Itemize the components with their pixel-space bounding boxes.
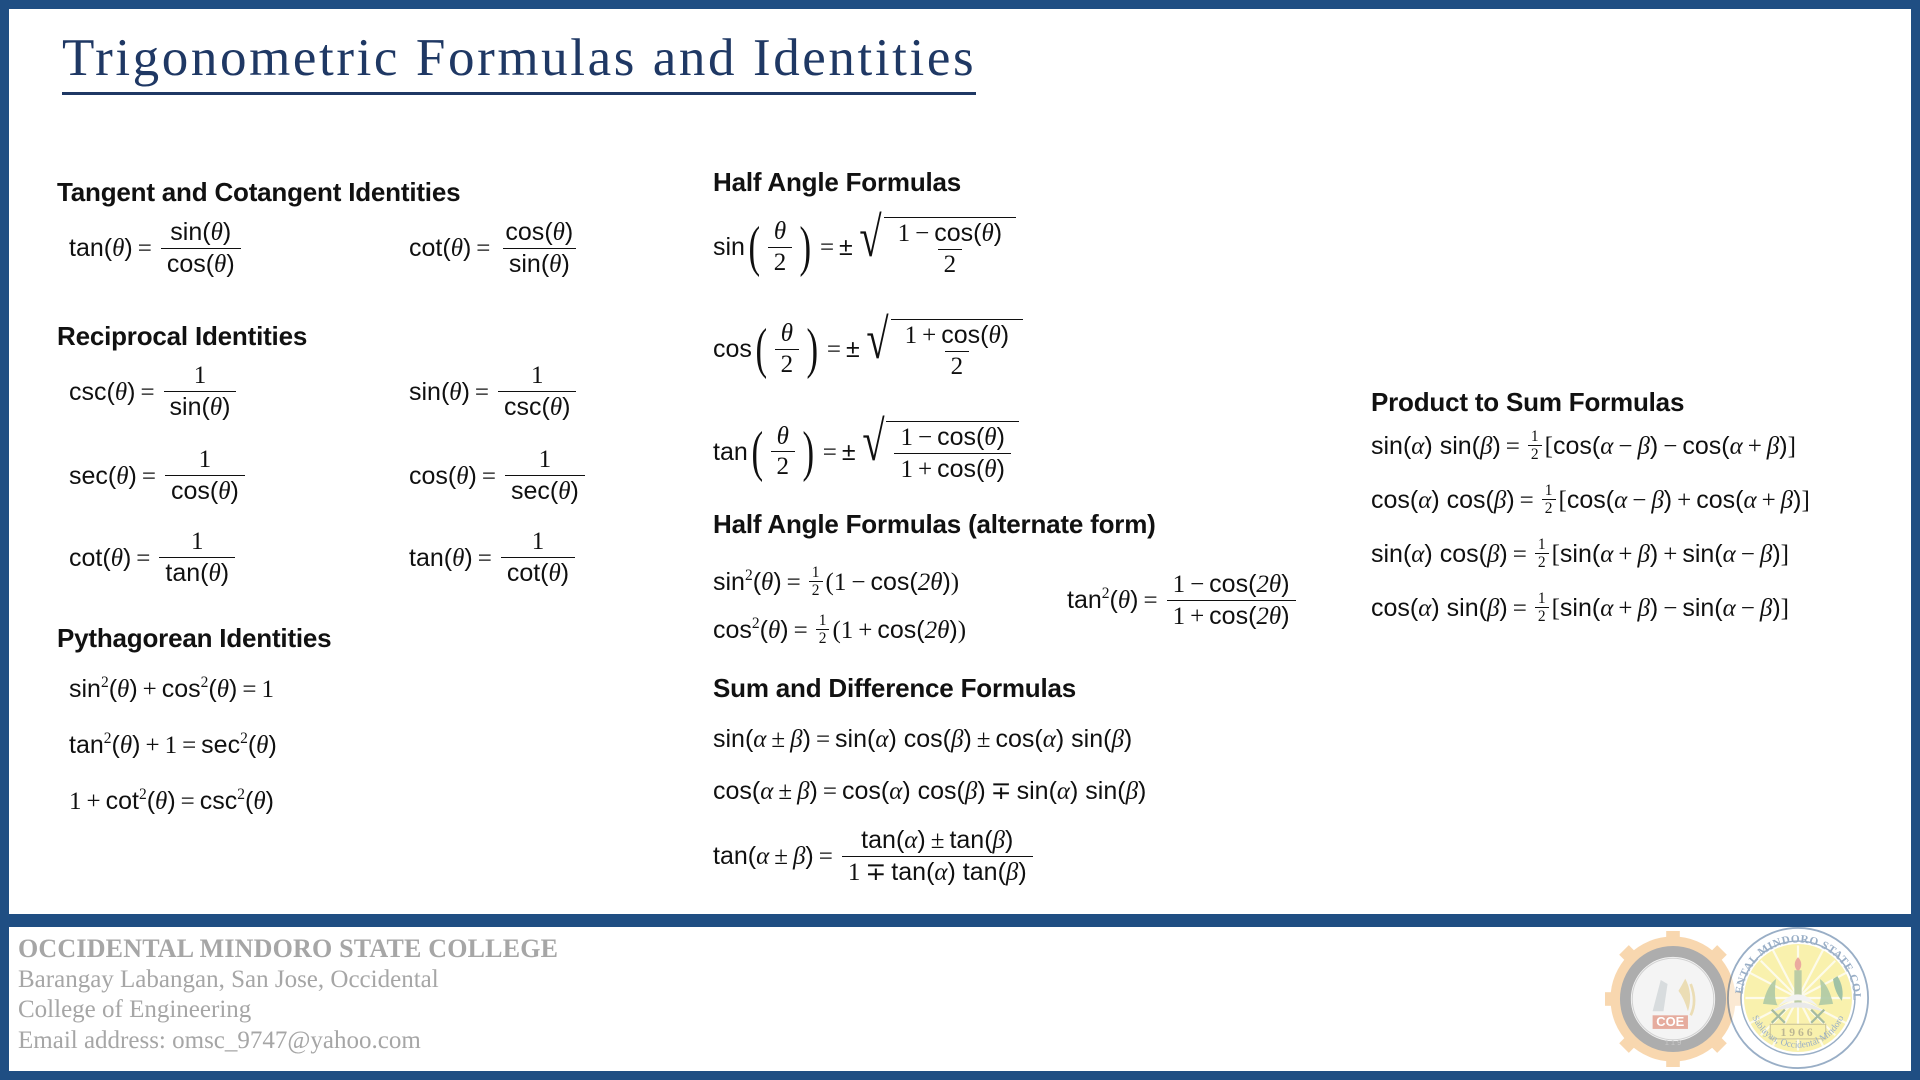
- radical-sign: √: [866, 319, 888, 380]
- exponent-2: 2: [745, 568, 753, 584]
- value-one: 1: [69, 789, 82, 814]
- symbol-beta: β: [790, 727, 802, 752]
- symbol-theta: θ: [117, 677, 129, 702]
- symbol-equals: =: [177, 733, 201, 758]
- symbol-minus: −: [1658, 596, 1682, 621]
- fraction-one-over-sin: 1 sin(θ): [164, 363, 237, 421]
- value-one: 1: [900, 424, 913, 451]
- value-one: 1: [834, 570, 847, 595]
- fraction-theta-over-two: θ 2: [775, 321, 800, 378]
- fraction-one-half: 1 2: [816, 613, 830, 648]
- symbol-plus: +: [1658, 542, 1682, 567]
- fraction-numerator: θ: [768, 219, 792, 247]
- fn-tan: tan: [949, 826, 984, 854]
- fn-sin: sin: [1371, 542, 1403, 567]
- symbol-plus: +: [1613, 596, 1637, 621]
- fraction-numerator: 1: [188, 363, 213, 391]
- symbol-alpha: α: [1723, 542, 1736, 567]
- formula-pythagorean-tan-sec: tan2(θ) + 1 = sec2(θ): [69, 733, 277, 758]
- bracket-close: ]: [1788, 434, 1796, 459]
- symbol-plus-minus: ±: [842, 440, 856, 465]
- symbol-alpha: α: [1723, 596, 1736, 621]
- fraction-numerator: cos(θ): [499, 219, 579, 248]
- symbol-minus: −: [1736, 542, 1760, 567]
- radical-expression: √ 1+cos(θ) 2: [862, 319, 1023, 380]
- symbol-alpha: α: [904, 827, 917, 854]
- fn-csc: csc: [200, 789, 238, 814]
- fn-sin: sin: [1682, 596, 1714, 621]
- fn-cos: cos: [877, 618, 916, 643]
- radical-body: 1+cos(θ) 2: [891, 319, 1023, 380]
- fraction-one-over-cot: 1 cot(θ): [501, 529, 575, 587]
- radical-sign: √: [859, 217, 881, 278]
- symbol-minus-plus: ∓: [986, 779, 1017, 804]
- fn-sin: sin: [69, 677, 101, 702]
- symbol-two-theta: 2θ: [918, 570, 943, 595]
- footer: OCCIDENTAL MINDORO STATE COLLEGE Baranga…: [9, 927, 1911, 1071]
- fn-cot: cot: [409, 236, 442, 261]
- radical-body: 1−cos(θ) 2: [884, 217, 1016, 278]
- symbol-alpha: α: [753, 727, 766, 752]
- fraction-denominator: sin(θ): [164, 391, 237, 422]
- paren-close-large: ): [807, 329, 819, 370]
- symbol-plus-minus: ±: [773, 779, 797, 804]
- symbol-alpha: α: [889, 779, 902, 804]
- exponent-2: 2: [1102, 586, 1110, 602]
- symbol-plus: +: [1757, 488, 1781, 513]
- fn-cos: cos: [713, 779, 752, 804]
- fn-tan: tan: [69, 236, 104, 261]
- fraction-denominator: 2: [1535, 553, 1549, 571]
- footer-address: Barangay Labangan, San Jose, Occidental: [18, 965, 558, 996]
- paren-open: (: [832, 618, 840, 643]
- formula-half-angle-alt-cos: cos2(θ) = 1 2 (1+cos(2θ)): [713, 613, 966, 648]
- formula-sum-difference-tan: tan(α±β) = tan(α)±tan(β) 1∓tan(α) tan(β): [713, 827, 1037, 886]
- symbol-minus: −: [910, 220, 934, 247]
- symbol-beta: β: [1760, 596, 1772, 621]
- fraction-sin-over-cos: sin(θ) cos(θ): [161, 219, 241, 278]
- bracket-open: [: [1552, 542, 1560, 567]
- fn-tan: tan: [963, 858, 998, 886]
- symbol-alpha: α: [1730, 434, 1743, 459]
- formula-content: Tangent and Cotangent Identities tan(θ) …: [9, 9, 1911, 1071]
- fn-cos: cos: [409, 464, 448, 489]
- fraction-one-over-sec: 1 sec(θ): [505, 447, 585, 505]
- fn-cos: cos: [918, 779, 957, 804]
- symbol-theta: θ: [116, 464, 128, 489]
- formula-half-angle-alt-tan: tan2(θ) = 1−cos(2θ) 1+cos(2θ): [1067, 571, 1300, 630]
- fn-sin: sin: [1682, 542, 1714, 567]
- formula-product-to-sum-cos-cos: cos(α) cos(β) = 1 2 [cos(α−β)+cos(α+β)]: [1371, 483, 1810, 518]
- fn-sin: sin: [835, 727, 867, 752]
- symbol-beta: β: [951, 727, 963, 752]
- value-one: 1: [905, 322, 918, 349]
- bracket-open: [: [1559, 488, 1567, 513]
- symbol-equals: =: [782, 570, 806, 595]
- fraction-denominator: 2: [768, 247, 793, 277]
- fraction-denominator: tan(θ): [159, 557, 235, 588]
- symbol-alpha: α: [1043, 727, 1056, 752]
- radical-body: 1−cos(θ) 1+cos(θ): [886, 421, 1018, 483]
- value-one: 1: [261, 677, 274, 702]
- formula-half-angle-alt-sin: sin2(θ) = 1 2 (1−cos(2θ)): [713, 565, 959, 600]
- symbol-alpha: α: [875, 727, 888, 752]
- symbol-beta: β: [1760, 542, 1772, 567]
- symbol-beta: β: [1651, 488, 1663, 513]
- fn-cot: cot: [106, 789, 139, 814]
- symbol-plus: +: [913, 456, 937, 483]
- symbol-theta: θ: [768, 618, 780, 643]
- symbol-beta: β: [1781, 488, 1793, 513]
- formula-tan-identity: tan(θ) = sin(θ) cos(θ): [69, 219, 245, 278]
- symbol-plus-minus: ±: [769, 844, 793, 869]
- symbol-theta: θ: [217, 677, 229, 702]
- heading-half-angle-formulas: Half Angle Formulas: [713, 167, 961, 198]
- fraction-numerator: tan(α)±tan(β): [855, 827, 1019, 856]
- fn-sec: sec: [511, 477, 550, 505]
- radical-expression: √ 1−cos(θ) 2: [855, 217, 1016, 278]
- paren-close-large: ): [800, 227, 812, 268]
- symbol-theta: θ: [553, 219, 565, 246]
- symbol-theta: θ: [218, 478, 230, 505]
- exponent-2: 2: [240, 731, 248, 747]
- heading-pythagorean-identities: Pythagorean Identities: [57, 623, 331, 654]
- fraction-numerator: θ: [771, 424, 795, 452]
- fraction-one-minus-cos2t-over-one-plus-cos2t: 1−cos(2θ) 1+cos(2θ): [1167, 571, 1296, 630]
- fraction-denominator: cos(θ): [165, 475, 245, 506]
- value-one: 1: [1173, 603, 1186, 630]
- fraction-one-plus-cos-over-two: 1+cos(θ) 2: [899, 322, 1015, 380]
- fraction-numerator: θ: [775, 321, 799, 349]
- bracket-close: ]: [1781, 542, 1789, 567]
- symbol-alpha: α: [756, 844, 769, 869]
- symbol-alpha: α: [1600, 542, 1613, 567]
- heading-tangent-cotangent-identities: Tangent and Cotangent Identities: [57, 177, 460, 208]
- footer-logos: COE 1 1 9: [1605, 923, 1905, 1075]
- symbol-two-theta: 2θ: [1256, 603, 1281, 630]
- symbol-minus-plus: ∓: [860, 859, 891, 886]
- fn-cos: cos: [937, 455, 976, 483]
- symbol-equals: =: [470, 380, 494, 405]
- value-one: 1: [848, 859, 861, 886]
- symbol-two-theta: 2θ: [1256, 571, 1281, 598]
- slide-content-area: Trigonometric Formulas and Identities Ta…: [9, 9, 1911, 1071]
- formula-product-to-sum-sin-sin: sin(α) sin(β) = 1 2 [cos(α−β)−cos(α+β)]: [1371, 429, 1796, 464]
- footer-email: Email address: omsc_9747@yahoo.com: [18, 1026, 558, 1057]
- formula-cot-reciprocal: cot(θ) = 1 tan(θ): [69, 529, 239, 587]
- symbol-theta: θ: [214, 251, 226, 278]
- heading-product-to-sum-formulas: Product to Sum Formulas: [1371, 387, 1684, 418]
- symbol-theta: θ: [550, 394, 562, 421]
- symbol-beta: β: [1767, 434, 1779, 459]
- fn-sin: sin: [1017, 779, 1049, 804]
- symbol-equals: =: [176, 789, 200, 814]
- symbol-beta: β: [1006, 859, 1018, 886]
- fraction-numerator: 1+cos(θ): [899, 322, 1015, 351]
- fraction-numerator: 1−cos(θ): [892, 220, 1008, 249]
- symbol-theta: θ: [988, 322, 1000, 349]
- symbol-beta: β: [1637, 434, 1649, 459]
- symbol-equals: =: [477, 464, 501, 489]
- formula-product-to-sum-cos-sin: cos(α) sin(β) = 1 2 [sin(α+β)−sin(α−β)]: [1371, 591, 1789, 626]
- symbol-alpha: α: [934, 859, 947, 886]
- symbol-beta: β: [797, 779, 809, 804]
- symbol-equals: =: [818, 440, 842, 465]
- symbol-alpha: α: [760, 779, 773, 804]
- fn-sin: sin: [713, 235, 745, 260]
- symbol-equals: =: [789, 618, 813, 643]
- fraction-theta-over-two: θ 2: [771, 424, 796, 481]
- symbol-equals: =: [822, 337, 846, 362]
- fn-tan: tan: [713, 440, 748, 465]
- symbol-alpha: α: [1418, 488, 1431, 513]
- paren-close-large: ): [803, 432, 815, 473]
- fn-sin: sin: [713, 570, 745, 595]
- symbol-equals: =: [137, 464, 161, 489]
- fraction-numerator: 1: [526, 529, 551, 557]
- symbol-minus: −: [1613, 434, 1637, 459]
- symbol-equals: =: [814, 844, 838, 869]
- symbol-theta: θ: [253, 789, 265, 814]
- fraction-denominator: cot(θ): [501, 557, 575, 588]
- fn-tan: tan: [891, 858, 926, 886]
- fn-cos: cos: [937, 423, 976, 451]
- paren-open-large: (: [755, 329, 767, 370]
- fn-cos: cos: [171, 477, 210, 505]
- symbol-theta: θ: [549, 251, 561, 278]
- fraction-one-over-cos: 1 cos(θ): [165, 447, 245, 505]
- symbol-equals: =: [1508, 596, 1532, 621]
- fn-cos: cos: [904, 727, 943, 752]
- fn-cos: cos: [1209, 570, 1248, 598]
- symbol-theta: θ: [449, 380, 461, 405]
- fraction-one-half: 1 2: [1535, 591, 1549, 626]
- symbol-equals: =: [815, 235, 839, 260]
- symbol-plus-minus: ±: [839, 235, 853, 260]
- symbol-beta: β: [965, 779, 977, 804]
- fn-tan: tan: [713, 844, 748, 869]
- fn-cos: cos: [167, 250, 206, 278]
- bracket-open: [: [1552, 596, 1560, 621]
- footer-department: College of Engineering: [18, 995, 558, 1026]
- fn-cos: cos: [1371, 596, 1410, 621]
- symbol-theta: θ: [984, 424, 996, 451]
- fn-cos: cos: [1209, 602, 1248, 630]
- fn-tan: tan: [1067, 588, 1102, 613]
- symbol-alpha: α: [1057, 779, 1070, 804]
- omsc-logo-year: 1966: [1780, 1026, 1815, 1039]
- symbol-equals: =: [1508, 542, 1532, 567]
- fraction-denominator: 1∓tan(α) tan(β): [842, 856, 1033, 887]
- value-one: 1: [165, 733, 178, 758]
- fn-cos: cos: [996, 727, 1035, 752]
- symbol-theta: θ: [452, 546, 464, 571]
- fn-cos: cos: [505, 218, 544, 246]
- fn-sin: sin: [1085, 779, 1117, 804]
- fn-cos: cos: [1696, 488, 1735, 513]
- fn-sin: sin: [409, 380, 441, 405]
- paren-close: ): [951, 570, 959, 595]
- symbol-minus: −: [1658, 434, 1682, 459]
- paren-open-large: (: [751, 432, 763, 473]
- fraction-one-over-tan: 1 tan(θ): [159, 529, 235, 587]
- fraction-one-minus-cos-over-one-plus-cos: 1−cos(θ) 1+cos(θ): [894, 424, 1010, 483]
- formula-cot-identity: cot(θ) = cos(θ) sin(θ): [409, 219, 583, 278]
- fraction-tan-sum-over-one-minus-tan-product: tan(α)±tan(β) 1∓tan(α) tan(β): [842, 827, 1033, 886]
- fn-cos: cos: [934, 219, 973, 247]
- symbol-theta: θ: [558, 478, 570, 505]
- fraction-denominator: cos(θ): [161, 248, 241, 279]
- formula-half-angle-sin: sin ( θ 2 ) = ± √ 1−cos(θ) 2: [713, 217, 1016, 278]
- formula-half-angle-cos: cos ( θ 2 ) = ± √ 1+cos(θ) 2: [713, 319, 1023, 380]
- fn-tan: tan: [409, 546, 444, 571]
- fraction-denominator: 1+cos(2θ): [1167, 600, 1296, 631]
- fn-sin: sin: [170, 218, 202, 246]
- symbol-equals: =: [811, 727, 835, 752]
- fn-cot: cot: [507, 559, 540, 587]
- symbol-equals: =: [133, 236, 157, 261]
- symbol-plus-minus: ±: [926, 827, 950, 854]
- symbol-equals: =: [135, 380, 159, 405]
- symbol-alpha: α: [1411, 434, 1424, 459]
- fn-sec: sec: [69, 464, 108, 489]
- radical-sign: √: [862, 421, 884, 483]
- symbol-plus: +: [140, 733, 164, 758]
- formula-tan-reciprocal: tan(θ) = 1 cot(θ): [409, 529, 579, 587]
- symbol-theta: θ: [256, 733, 268, 758]
- symbol-plus: +: [917, 322, 941, 349]
- paren-open: (: [826, 570, 834, 595]
- fraction-numerator: 1: [1528, 429, 1542, 445]
- symbol-plus: +: [1672, 488, 1696, 513]
- fraction-denominator: 2: [1528, 445, 1542, 463]
- fraction-denominator: 2: [775, 349, 800, 379]
- fn-cos: cos: [713, 618, 752, 643]
- fraction-numerator: sin(θ): [164, 219, 237, 248]
- symbol-theta: θ: [984, 456, 996, 483]
- exponent-2: 2: [237, 787, 245, 803]
- fraction-numerator: 1: [525, 363, 550, 391]
- fn-cos: cos: [162, 677, 201, 702]
- symbol-plus: +: [1743, 434, 1767, 459]
- symbol-equals: =: [473, 546, 497, 571]
- symbol-theta: θ: [155, 789, 167, 814]
- symbol-two-theta: 2θ: [925, 618, 950, 643]
- symbol-theta: θ: [120, 733, 132, 758]
- symbol-beta: β: [1637, 596, 1649, 621]
- formula-half-angle-tan: tan ( θ 2 ) = ± √ 1−cos(θ) 1+cos(θ): [713, 421, 1019, 483]
- fraction-theta-over-two: θ 2: [768, 219, 793, 276]
- fn-cot: cot: [69, 546, 102, 571]
- fraction-numerator: 1: [185, 529, 210, 557]
- symbol-minus: −: [1627, 488, 1651, 513]
- exponent-2: 2: [139, 787, 147, 803]
- fn-cos: cos: [1447, 488, 1486, 513]
- value-one: 1: [841, 618, 854, 643]
- symbol-equals: =: [818, 779, 842, 804]
- formula-sec-reciprocal: sec(θ) = 1 cos(θ): [69, 447, 249, 505]
- omsc-seal-logo: 1966 OCCIDENTAL MINDORO STATE COLLEGE Sa…: [1725, 925, 1871, 1071]
- symbol-equals: =: [1501, 434, 1525, 459]
- value-one: 1: [900, 456, 913, 483]
- symbol-beta: β: [1487, 542, 1499, 567]
- symbol-plus: +: [82, 789, 106, 814]
- symbol-plus: +: [1185, 603, 1209, 630]
- symbol-minus: −: [1185, 571, 1209, 598]
- symbol-beta: β: [1487, 596, 1499, 621]
- fraction-numerator: 1: [1535, 537, 1549, 553]
- fn-sin: sin: [1560, 596, 1592, 621]
- formula-cos-reciprocal: cos(θ) = 1 sec(θ): [409, 447, 589, 505]
- fn-tan: tan: [861, 826, 896, 854]
- fraction-numerator: 1: [809, 565, 823, 581]
- value-one: 1: [898, 220, 911, 247]
- symbol-theta: θ: [211, 219, 223, 246]
- fn-cos: cos: [1440, 542, 1479, 567]
- bracket-close: ]: [1801, 488, 1809, 513]
- fraction-one-half: 1 2: [1528, 429, 1542, 464]
- formula-pythagorean-sin-cos: sin2(θ) + cos2(θ) = 1: [69, 677, 274, 702]
- symbol-equals: =: [131, 546, 155, 571]
- paren-open: (: [104, 236, 112, 261]
- symbol-theta: θ: [112, 236, 124, 261]
- fraction-denominator: sin(θ): [503, 248, 576, 279]
- symbol-theta: θ: [456, 464, 468, 489]
- heading-reciprocal-identities: Reciprocal Identities: [57, 321, 307, 352]
- symbol-theta: θ: [549, 560, 561, 587]
- fraction-denominator: 2: [945, 351, 970, 381]
- fraction-denominator: 2: [816, 629, 830, 647]
- formula-csc-reciprocal: csc(θ) = 1 sin(θ): [69, 363, 240, 421]
- exponent-2: 2: [752, 616, 760, 632]
- fraction-one-half: 1 2: [1542, 483, 1556, 518]
- coe-gear-logo: COE 1 1 9: [1605, 931, 1741, 1067]
- fn-sin: sin: [1447, 596, 1479, 621]
- symbol-plus-minus: ±: [846, 337, 860, 362]
- symbol-equals: =: [471, 236, 495, 261]
- symbol-theta: θ: [111, 546, 123, 571]
- symbol-beta: β: [793, 844, 805, 869]
- fraction-numerator: 1: [1542, 483, 1556, 499]
- symbol-minus: −: [846, 570, 870, 595]
- exponent-2: 2: [104, 731, 112, 747]
- fn-csc: csc: [69, 380, 107, 405]
- symbol-beta: β: [1637, 542, 1649, 567]
- formula-pythagorean-cot-csc: 1 + cot2(θ) = csc2(θ): [69, 789, 274, 814]
- symbol-theta: θ: [982, 220, 994, 247]
- symbol-theta: θ: [115, 380, 127, 405]
- fn-cos: cos: [1553, 434, 1592, 459]
- fraction-denominator: 2: [771, 451, 796, 481]
- value-one: 1: [1173, 571, 1186, 598]
- fraction-denominator: 1+cos(θ): [894, 453, 1010, 484]
- symbol-equals: =: [1515, 488, 1539, 513]
- paren-close: ): [958, 618, 966, 643]
- fraction-denominator: 2: [938, 249, 963, 279]
- fn-sin: sin: [170, 393, 202, 421]
- footer-organization: OCCIDENTAL MINDORO STATE COLLEGE: [18, 934, 558, 965]
- symbol-minus: −: [1736, 596, 1760, 621]
- paren-open-large: (: [749, 227, 761, 268]
- symbol-alpha: α: [1418, 596, 1431, 621]
- svg-text:1 1 9: 1 1 9: [1665, 1038, 1682, 1047]
- fn-sin: sin: [1371, 434, 1403, 459]
- slide: Trigonometric Formulas and Identities Ta…: [0, 0, 1920, 1080]
- fn-sin: sin: [713, 727, 745, 752]
- symbol-alpha: α: [1614, 488, 1627, 513]
- symbol-plus-minus: ±: [766, 727, 790, 752]
- formula-product-to-sum-sin-cos: sin(α) cos(β) = 1 2 [sin(α+β)+sin(α−β)]: [1371, 537, 1789, 572]
